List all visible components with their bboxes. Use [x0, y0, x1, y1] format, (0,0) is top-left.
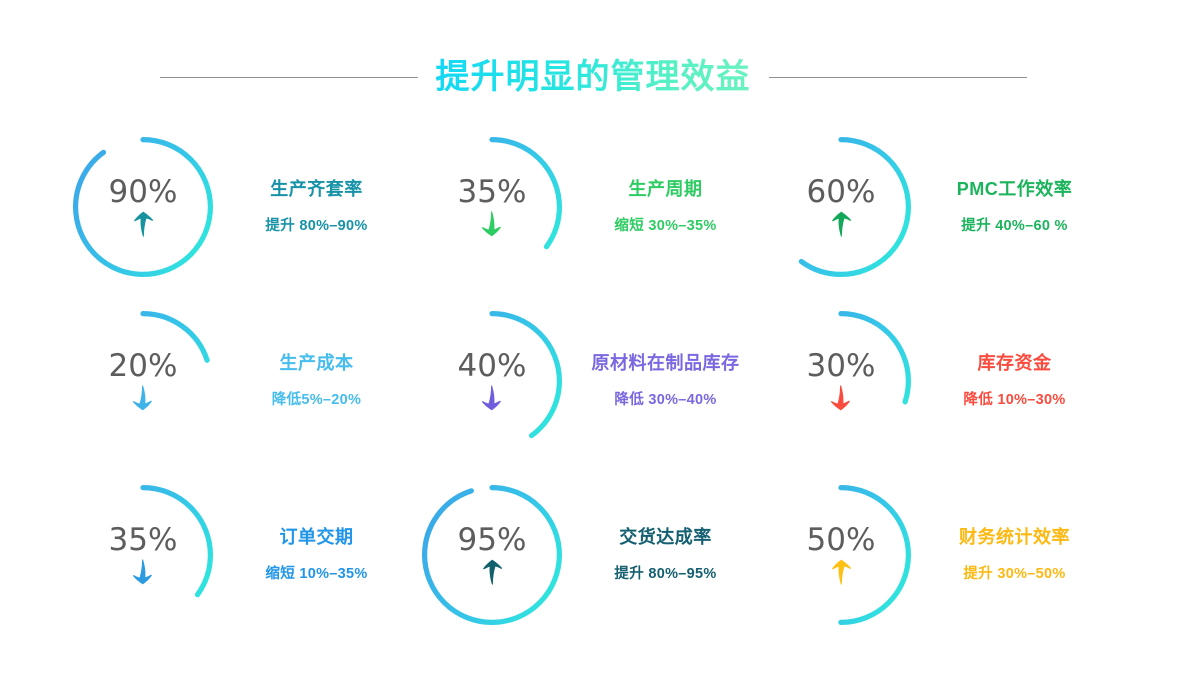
metric-card: 20%生产成本降低5%–20% [70, 294, 419, 468]
metric-card-grid: 90%生产齐套率提升 80%–90%35%生产周期缩短 30%–35%60%PM… [70, 120, 1116, 640]
metric-title: PMC工作效率 [957, 180, 1073, 198]
metric-text: 交货达成率提升 80%–95% [571, 528, 768, 582]
metric-subtitle: 缩短 10%–35% [265, 567, 367, 582]
progress-ring-center: 90% [70, 134, 216, 280]
metric-subtitle: 降低5%–20% [272, 393, 361, 408]
arrow-down-icon [481, 211, 503, 237]
metric-subtitle: 降低 10%–30% [963, 393, 1065, 408]
progress-ring-center: 95% [419, 482, 565, 628]
percent-value: 35% [109, 525, 178, 556]
header-rule-left [160, 77, 418, 78]
arrow-down-icon [830, 385, 852, 411]
progress-ring: 35% [419, 134, 565, 280]
metric-card: 90%生产齐套率提升 80%–90% [70, 120, 419, 294]
progress-ring-center: 30% [768, 308, 914, 454]
metric-subtitle: 提升 80%–95% [614, 567, 716, 582]
progress-ring: 50% [768, 482, 914, 628]
metric-title: 生产周期 [629, 180, 703, 198]
percent-value: 40% [458, 351, 527, 382]
progress-ring: 20% [70, 308, 216, 454]
trend-arrow [481, 559, 503, 585]
progress-ring: 35% [70, 482, 216, 628]
progress-ring-center: 40% [419, 308, 565, 454]
arrow-up-icon [481, 559, 503, 585]
arrow-up-icon [830, 211, 852, 237]
metric-text: 财务统计效率提升 30%–50% [920, 528, 1117, 582]
percent-value: 60% [807, 177, 876, 208]
progress-ring-center: 20% [70, 308, 216, 454]
percent-value: 95% [458, 525, 527, 556]
trend-arrow [830, 211, 852, 237]
trend-arrow [830, 385, 852, 411]
metric-subtitle: 提升 30%–50% [963, 567, 1065, 582]
infographic-page: 提升明显的管理效益 90%生产齐套率提升 80%–90%35%生产周期缩短 30… [0, 0, 1186, 684]
percent-value: 90% [109, 177, 178, 208]
arrow-up-icon [132, 211, 154, 237]
metric-text: PMC工作效率提升 40%–60 % [920, 180, 1117, 234]
trend-arrow [132, 385, 154, 411]
page-title: 提升明显的管理效益 [436, 55, 751, 100]
progress-ring: 90% [70, 134, 216, 280]
metric-text: 生产周期缩短 30%–35% [571, 180, 768, 234]
progress-ring-center: 35% [419, 134, 565, 280]
progress-ring: 30% [768, 308, 914, 454]
trend-arrow [481, 211, 503, 237]
progress-ring-center: 50% [768, 482, 914, 628]
metric-title: 交货达成率 [619, 528, 712, 546]
header-rule-right [769, 77, 1027, 78]
metric-title: 生产成本 [280, 354, 354, 372]
metric-card: 30%库存资金降低 10%–30% [768, 294, 1117, 468]
metric-card: 60%PMC工作效率提升 40%–60 % [768, 120, 1117, 294]
percent-value: 30% [807, 351, 876, 382]
trend-arrow [481, 385, 503, 411]
metric-subtitle: 缩短 30%–35% [614, 219, 716, 234]
metric-card: 35%生产周期缩短 30%–35% [419, 120, 768, 294]
metric-card: 95%交货达成率提升 80%–95% [419, 468, 768, 642]
metric-text: 生产齐套率提升 80%–90% [222, 180, 419, 234]
progress-ring: 95% [419, 482, 565, 628]
trend-arrow [132, 211, 154, 237]
arrow-down-icon [132, 559, 154, 585]
metric-card: 35%订单交期缩短 10%–35% [70, 468, 419, 642]
trend-arrow [830, 559, 852, 585]
trend-arrow [132, 559, 154, 585]
metric-title: 生产齐套率 [270, 180, 363, 198]
arrow-up-icon [830, 559, 852, 585]
metric-card: 40%原材料在制品库存降低 30%–40% [419, 294, 768, 468]
metric-card: 50%财务统计效率提升 30%–50% [768, 468, 1117, 642]
percent-value: 20% [109, 351, 178, 382]
percent-value: 50% [807, 525, 876, 556]
arrow-down-icon [132, 385, 154, 411]
metric-text: 原材料在制品库存降低 30%–40% [571, 354, 768, 408]
page-header: 提升明显的管理效益 [0, 46, 1186, 108]
metric-text: 库存资金降低 10%–30% [920, 354, 1117, 408]
progress-ring-center: 60% [768, 134, 914, 280]
metric-title: 订单交期 [280, 528, 354, 546]
progress-ring: 60% [768, 134, 914, 280]
metric-title: 库存资金 [978, 354, 1052, 372]
metric-subtitle: 降低 30%–40% [614, 393, 716, 408]
percent-value: 35% [458, 177, 527, 208]
progress-ring-center: 35% [70, 482, 216, 628]
metric-text: 订单交期缩短 10%–35% [222, 528, 419, 582]
progress-ring: 40% [419, 308, 565, 454]
metric-title: 原材料在制品库存 [592, 354, 740, 372]
metric-text: 生产成本降低5%–20% [222, 354, 419, 408]
metric-subtitle: 提升 40%–60 % [961, 219, 1067, 234]
metric-subtitle: 提升 80%–90% [265, 219, 367, 234]
arrow-down-icon [481, 385, 503, 411]
metric-title: 财务统计效率 [959, 528, 1070, 546]
